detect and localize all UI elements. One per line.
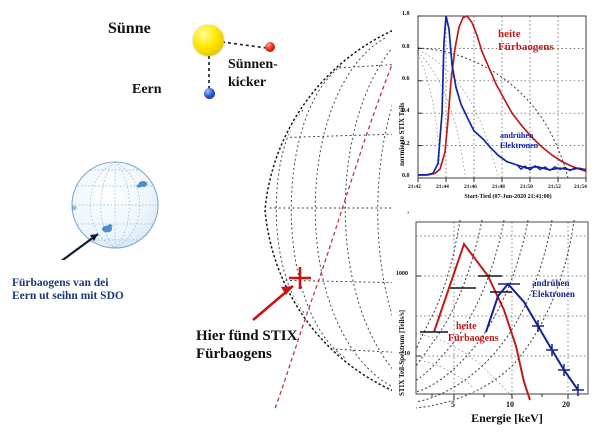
spectrum-xtick-2: 20 bbox=[562, 400, 570, 409]
spectrum-panel: STIX Teil-Spektrum [Teils/s] bbox=[392, 214, 598, 432]
earth-label: Eern bbox=[132, 83, 162, 98]
sdo-caption-line2: Eern ut seihn mit SDO bbox=[12, 290, 124, 303]
lightcurve-annotation-red-1: heite bbox=[498, 28, 521, 40]
lightcurve-xtick-6: 21:54 bbox=[574, 184, 587, 190]
spectrum-ytick-1: 10 bbox=[404, 351, 410, 357]
sun-icon bbox=[193, 25, 224, 56]
lightcurve-ytick-0: 0.0 bbox=[402, 173, 410, 179]
lightcurve-panel: normierte STIX Teils bbox=[392, 6, 598, 211]
flare-marker-arrow bbox=[253, 286, 293, 320]
lightcurve-ytick-4: 0.8 bbox=[402, 44, 410, 50]
spectrum-annotation-red-1: heite bbox=[456, 321, 477, 332]
lightcurve-xtick-5: 21:52 bbox=[548, 184, 561, 190]
lightcurve-annotation-blue-2: Elektronen bbox=[500, 142, 538, 151]
spectrum-x-axis-title: Energie [keV] bbox=[432, 411, 582, 426]
lightcurve-x-axis-title: Start-Tied (07-Jun-2020 21:41:00) bbox=[428, 194, 588, 200]
spectrum-xtick-1: 10 bbox=[506, 400, 514, 409]
flare-marker-label-line2: Fürbaogens bbox=[196, 347, 272, 363]
lightcurve-xtick-0: 21:42 bbox=[408, 184, 421, 190]
sdo-solar-disk bbox=[60, 150, 170, 260]
sdo-disk-graphic bbox=[60, 150, 170, 260]
figure-canvas: Sünne Eern Sünnen- kicker bbox=[0, 0, 600, 435]
lightcurve-annotation-blue-1: andrühen bbox=[500, 132, 533, 141]
sdo-caption-line1: Fürbaogens van dei bbox=[12, 277, 109, 290]
spectrum-annotation-blue-1: andrühen bbox=[532, 279, 570, 289]
lightcurve-ytick-1: 0.2 bbox=[402, 141, 410, 147]
lightcurve-xtick-2: 21:46 bbox=[464, 184, 477, 190]
lightcurve-xtick-4: 21:50 bbox=[520, 184, 533, 190]
flare-marker-label-line1: Hier fünd STIX bbox=[196, 329, 297, 345]
earth-icon bbox=[204, 88, 215, 99]
lightcurve-xtick-3: 21:48 bbox=[492, 184, 505, 190]
spectrum-ytick-0: 1000 bbox=[396, 271, 408, 277]
spectrum-xtick-0: 5 bbox=[451, 400, 455, 409]
sun-label: Sünne bbox=[108, 21, 151, 38]
lightcurve-plot bbox=[392, 6, 598, 211]
lightcurve-annotation-red-2: Fürbaogens bbox=[498, 41, 554, 53]
lightcurve-xtick-1: 21:44 bbox=[436, 184, 449, 190]
lightcurve-ytick-2: 0.4 bbox=[402, 108, 410, 114]
spectrum-annotation-blue-2: Elektronen bbox=[532, 290, 575, 300]
lightcurve-ytick-3: 0.6 bbox=[402, 76, 410, 82]
spectrum-annotation-red-2: Fürbaogens bbox=[448, 333, 499, 344]
lightcurve-ytick-5: 1.0 bbox=[402, 11, 410, 17]
